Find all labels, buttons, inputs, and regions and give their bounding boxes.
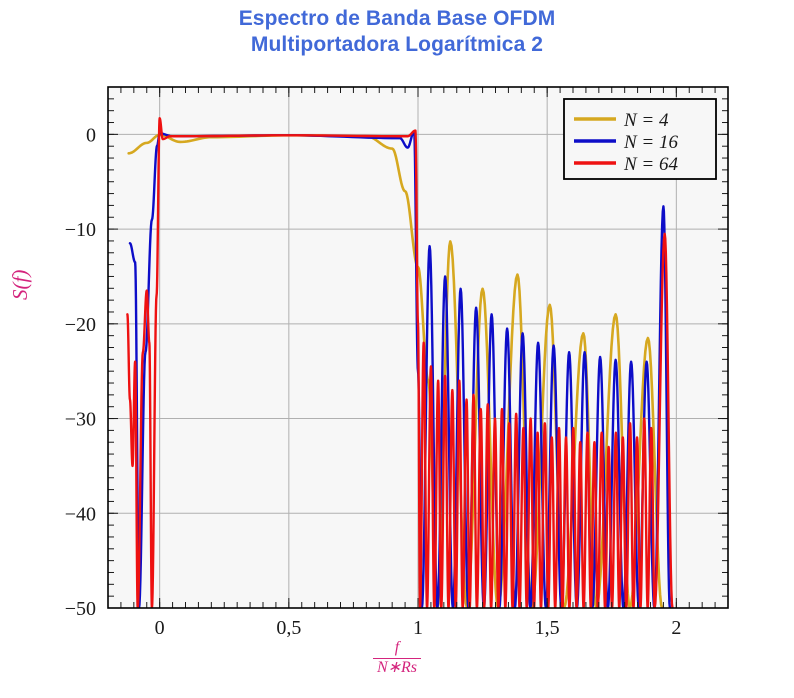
legend-label-0: N = 4 (623, 110, 669, 131)
y-axis-label-text: S(f) (8, 270, 32, 300)
y-tick-label: −20 (65, 314, 96, 336)
x-tick-label: 0 (155, 617, 165, 639)
x-axis-label-numerator: f (373, 640, 421, 659)
y-tick-label: 0 (86, 124, 96, 146)
x-tick-label: 1 (413, 617, 423, 639)
x-axis-label-fraction: f N∗Rs (373, 640, 421, 677)
y-tick-label: −50 (65, 598, 96, 620)
legend-label-1: N = 16 (623, 132, 678, 153)
y-axis-label: S(f) (8, 270, 33, 300)
x-tick-label: 2 (671, 617, 681, 639)
y-tick-label: −10 (65, 219, 96, 241)
chart-title-line-2: Multiportadora Logarítmica 2 (0, 32, 794, 58)
x-axis-label: f N∗Rs (0, 640, 794, 677)
x-tick-label: 1,5 (535, 617, 560, 639)
plot-canvas: 00,511,520−10−20−30−40−50N = 4N = 16N = … (0, 0, 794, 698)
chart-title-line-1: Espectro de Banda Base OFDM (0, 6, 794, 32)
x-tick-label: 0,5 (276, 617, 301, 639)
x-axis-label-denominator: N∗Rs (373, 659, 421, 677)
chart-figure: Espectro de Banda Base OFDM Multiportado… (0, 0, 794, 698)
y-tick-label: −40 (65, 503, 96, 525)
legend-label-2: N = 64 (623, 154, 678, 175)
legend: N = 4N = 16N = 64 (564, 99, 716, 179)
y-tick-label: −30 (65, 409, 96, 431)
chart-title: Espectro de Banda Base OFDM Multiportado… (0, 6, 794, 57)
